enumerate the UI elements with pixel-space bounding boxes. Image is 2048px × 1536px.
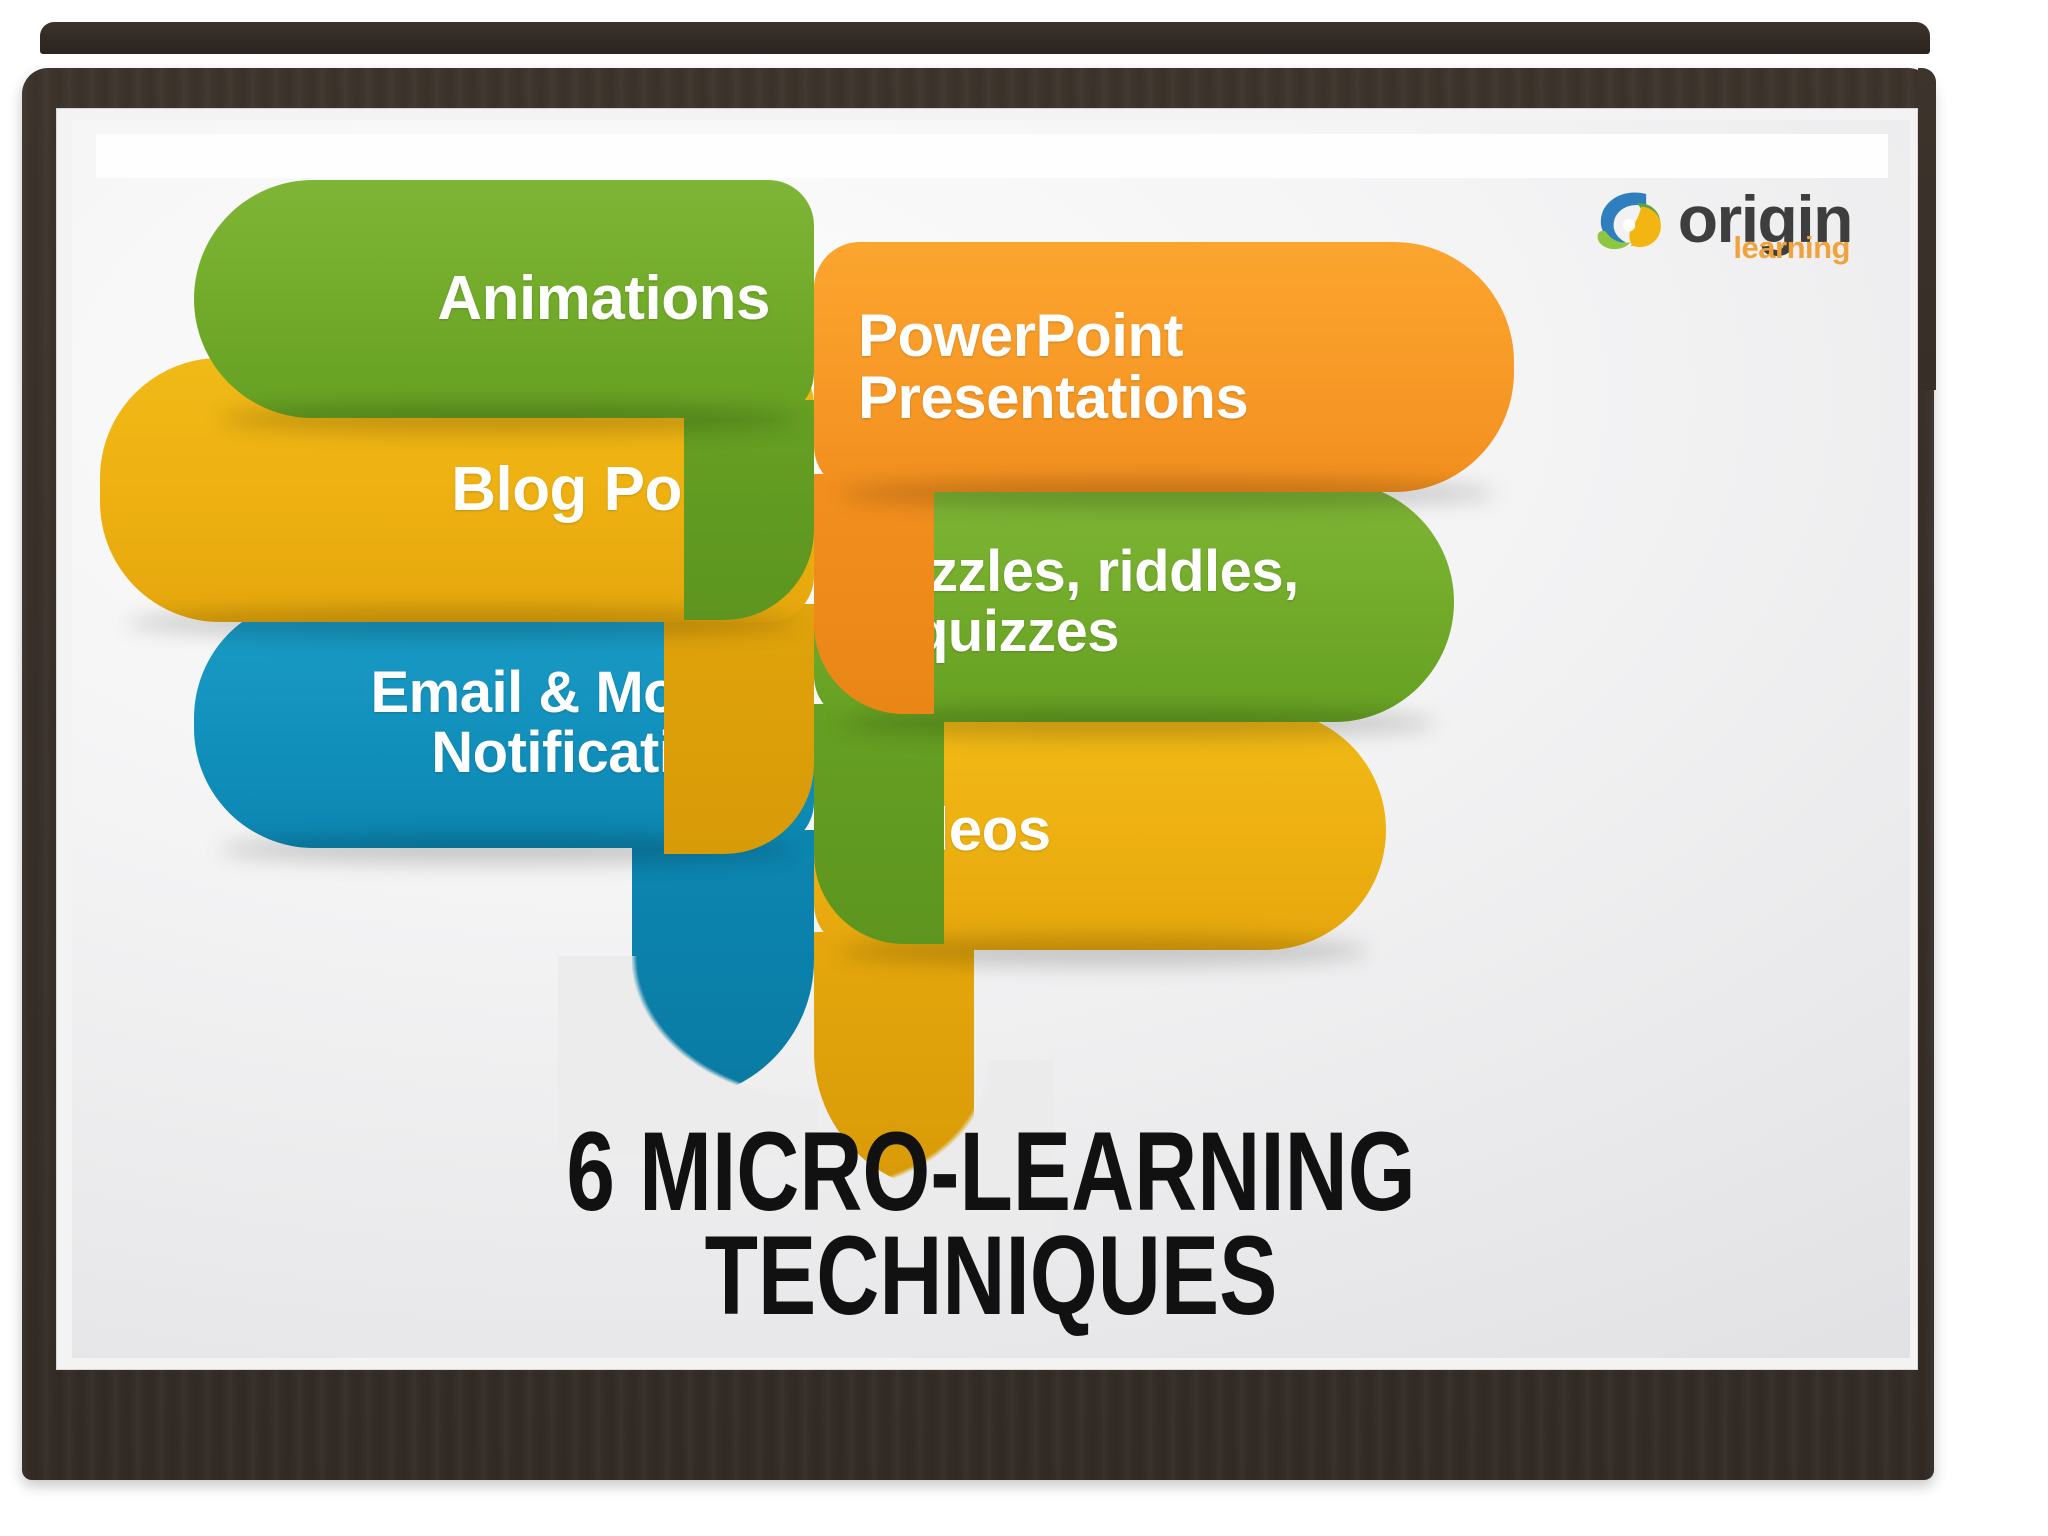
bubble-label-blog-posts: Blog Posts xyxy=(100,458,770,522)
screenshot-root: origin learning Animations Blog Posts E xyxy=(0,0,2048,1536)
bubble-stem-powerpoint xyxy=(814,474,934,714)
frame-top-lip xyxy=(40,22,1930,54)
bubble-label-line2: Presentations xyxy=(858,364,1248,431)
speech-bubble-cluster: Animations Blog Posts Email & Mobile Not… xyxy=(72,120,1910,1120)
bubble-animations[interactable]: Animations xyxy=(194,180,814,418)
bubble-label-powerpoint-presentations: PowerPoint Presentations xyxy=(858,305,1514,429)
page-title-line1: 6 MICRO-LEARNING xyxy=(274,1120,1708,1224)
bubble-label-line1: PowerPoint xyxy=(858,302,1183,369)
page-title-line2: TECHNIQUES xyxy=(274,1224,1708,1328)
bubble-label-puzzles-riddles-quizzes: Puzzles, riddles, & quizzes xyxy=(856,542,1454,661)
bubble-powerpoint-presentations[interactable]: PowerPoint Presentations xyxy=(814,242,1514,492)
frame-right-notch xyxy=(1918,68,1936,390)
bubble-label-animations: Animations xyxy=(194,267,770,331)
bubble-stem-blog-posts xyxy=(664,604,814,854)
slide-canvas: origin learning Animations Blog Posts E xyxy=(72,120,1910,1358)
page-title: 6 MICRO-LEARNING TECHNIQUES xyxy=(72,1120,1910,1328)
bubble-stem-puzzles xyxy=(814,704,944,944)
